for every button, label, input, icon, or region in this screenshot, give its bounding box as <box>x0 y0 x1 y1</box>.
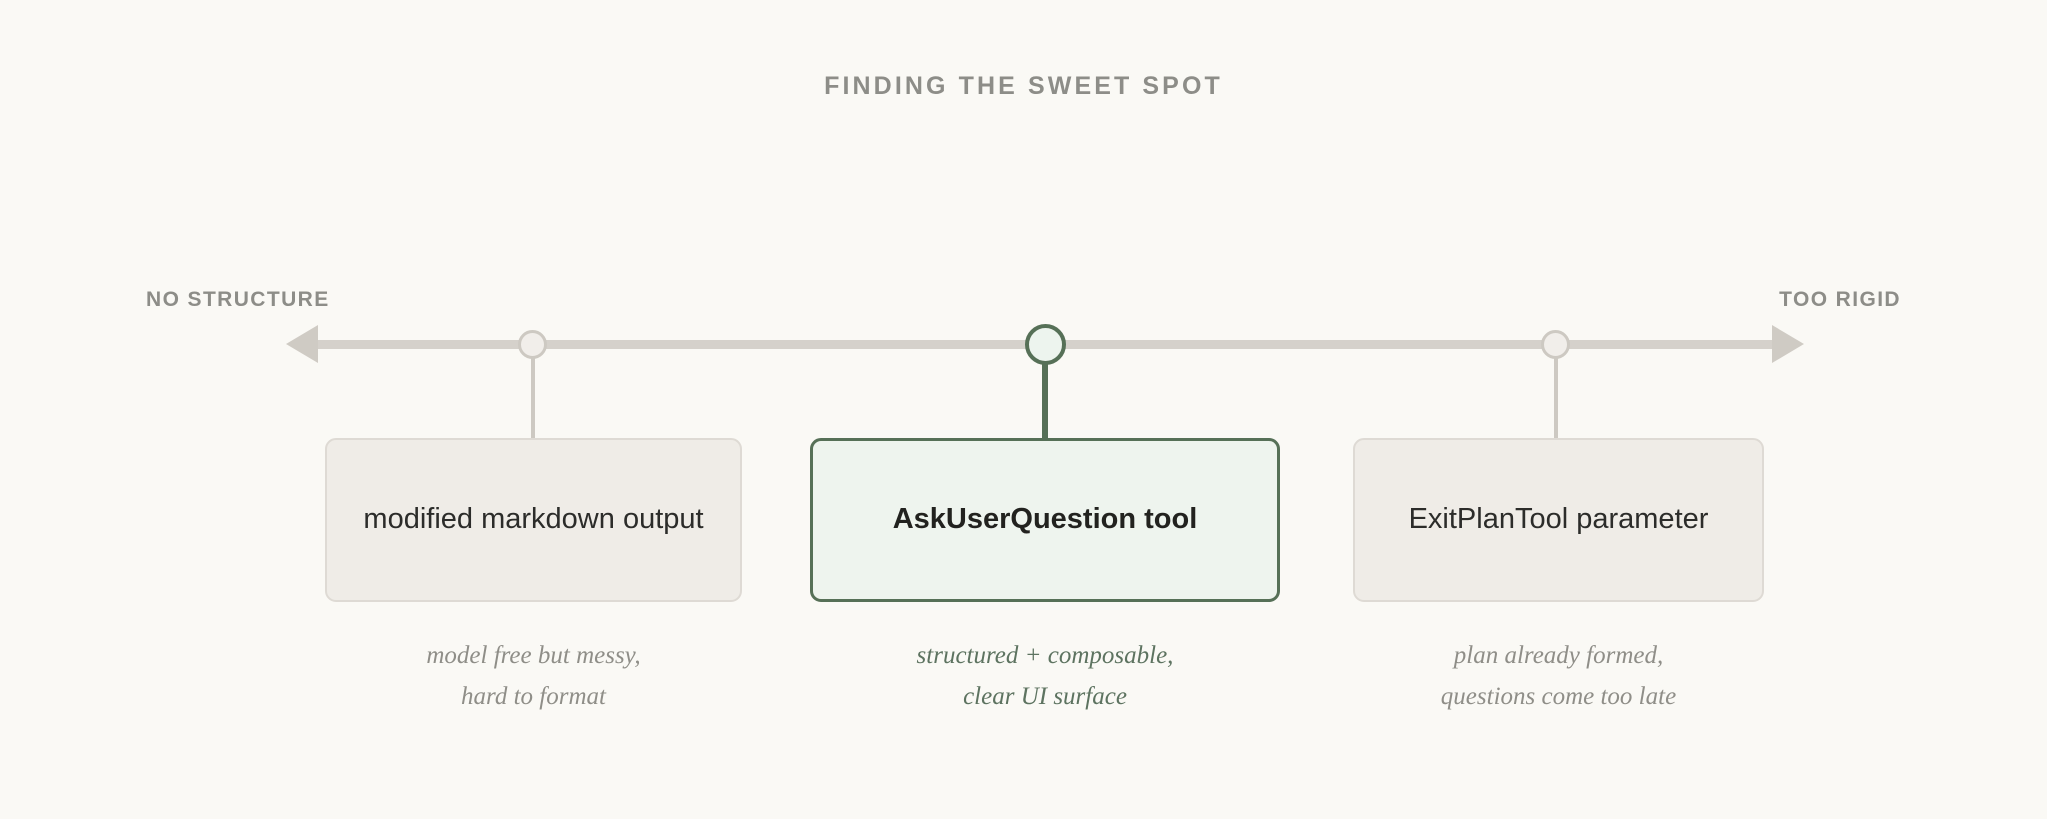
connector-line-3 <box>1554 352 1558 440</box>
arrow-left-icon <box>286 325 318 363</box>
option-caption-exitplantool-parameter: plan already formed, questions come too … <box>1313 636 1804 717</box>
connector-line-1 <box>531 352 535 440</box>
option-caption-line1: structured + composable, <box>810 636 1280 677</box>
axis-label-right: TOO RIGID <box>1779 288 1901 312</box>
arrow-right-icon <box>1772 325 1804 363</box>
option-caption-modified-markdown-output: model free but messy, hard to format <box>325 636 742 717</box>
option-card-exitplantool-parameter[interactable]: ExitPlanTool parameter <box>1353 438 1764 602</box>
option-card-label-line2: tool <box>1144 503 1197 535</box>
option-caption-line2: hard to format <box>325 677 742 718</box>
option-caption-line2: questions come too late <box>1313 677 1804 718</box>
option-card-label-line1: ExitPlanTool <box>1409 503 1569 535</box>
option-caption-askuserquestion-tool: structured + composable, clear UI surfac… <box>810 636 1280 717</box>
diagram-canvas: FINDING THE SWEET SPOT NO STRUCTURE TOO … <box>0 0 2047 819</box>
spectrum-node-2-selected[interactable] <box>1025 324 1066 365</box>
option-caption-line2: clear UI surface <box>810 677 1280 718</box>
option-caption-line1: model free but messy, <box>325 636 742 677</box>
page-title: FINDING THE SWEET SPOT <box>0 72 2047 101</box>
option-card-modified-markdown-output[interactable]: modified markdown output <box>325 438 742 602</box>
option-card-label: modified markdown output <box>363 501 703 538</box>
axis-label-left: NO STRUCTURE <box>146 288 330 312</box>
option-card-label: AskUserQuestion tool <box>893 501 1198 538</box>
spectrum-node-3[interactable] <box>1541 330 1570 359</box>
option-card-label-line1: modified markdown <box>363 503 614 535</box>
option-card-label-line2: parameter <box>1576 503 1708 535</box>
option-card-label-line1: AskUserQuestion <box>893 503 1136 535</box>
connector-line-2 <box>1042 352 1048 440</box>
option-caption-line1: plan already formed, <box>1313 636 1804 677</box>
option-card-label-line2: output <box>623 503 704 535</box>
spectrum-node-1[interactable] <box>518 330 547 359</box>
option-card-askuserquestion-tool[interactable]: AskUserQuestion tool <box>810 438 1280 602</box>
option-card-label: ExitPlanTool parameter <box>1409 501 1709 538</box>
